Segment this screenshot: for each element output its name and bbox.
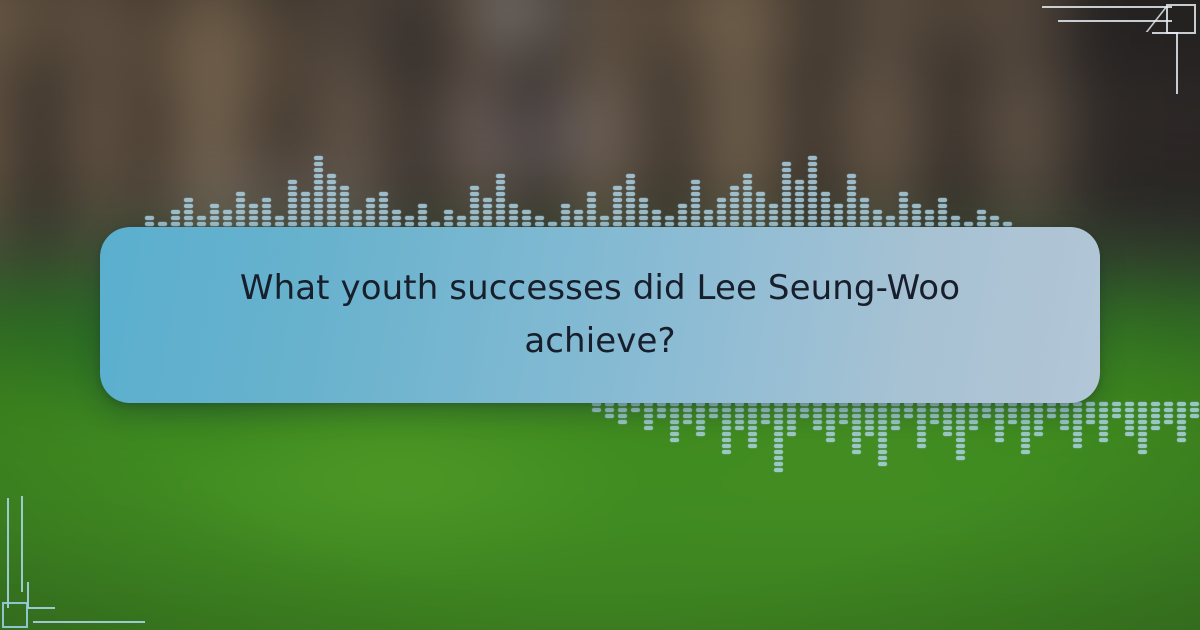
waveform-dot	[756, 216, 765, 220]
waveform-dot	[774, 450, 783, 454]
waveform-dot	[774, 420, 783, 424]
waveform-dot	[691, 216, 700, 220]
waveform-dot	[496, 204, 505, 208]
waveform-dot	[496, 222, 505, 226]
waveform-dot	[678, 216, 687, 220]
waveform-dot	[379, 198, 388, 202]
waveform-dot	[748, 420, 757, 424]
waveform-dot	[756, 222, 765, 226]
waveform-dot	[644, 408, 653, 412]
waveform-bar	[704, 210, 713, 228]
waveform-dot	[639, 210, 648, 214]
waveform-bar	[761, 400, 770, 424]
waveform-dot	[587, 192, 596, 196]
waveform-dot	[1125, 432, 1134, 436]
waveform-bar	[418, 204, 427, 228]
waveform-dot	[951, 222, 960, 226]
waveform-dot	[704, 210, 713, 214]
waveform-dot	[925, 222, 934, 226]
waveform-dot	[496, 180, 505, 184]
waveform-dot	[670, 414, 679, 418]
waveform-bar	[826, 400, 835, 442]
waveform-dot	[683, 408, 692, 412]
waveform-dot	[470, 186, 479, 190]
waveform-dot	[1086, 402, 1095, 406]
waveform-dot	[379, 204, 388, 208]
waveform-bar	[184, 198, 193, 228]
waveform-dot	[743, 222, 752, 226]
waveform-dot	[735, 414, 744, 418]
waveform-dot	[735, 426, 744, 430]
waveform-dot	[808, 174, 817, 178]
waveform-dot	[761, 408, 770, 412]
waveform-bar	[808, 156, 817, 228]
waveform-dot	[860, 204, 869, 208]
waveform-dot	[1099, 402, 1108, 406]
waveform-bar	[769, 204, 778, 228]
waveform-dot	[899, 198, 908, 202]
waveform-dot	[917, 426, 926, 430]
waveform-dot	[535, 222, 544, 226]
waveform-dot	[878, 450, 887, 454]
waveform-dot	[236, 210, 245, 214]
waveform-dot	[964, 222, 973, 226]
waveform-bar	[873, 210, 882, 228]
waveform-dot	[236, 222, 245, 226]
waveform-dot	[995, 426, 1004, 430]
waveform-dot	[1073, 408, 1082, 412]
waveform-bar	[392, 210, 401, 228]
waveform-dot	[314, 210, 323, 214]
waveform-dot	[899, 210, 908, 214]
waveform-dot	[605, 414, 614, 418]
waveform-bar	[995, 400, 1004, 442]
waveform-dot	[314, 204, 323, 208]
waveform-dot	[639, 204, 648, 208]
waveform-dot	[839, 420, 848, 424]
waveform-dot	[1151, 420, 1160, 424]
waveform-dot	[657, 408, 666, 412]
waveform-dot	[1138, 450, 1147, 454]
waveform-bar	[795, 180, 804, 228]
waveform-dot	[1021, 408, 1030, 412]
waveform-dot	[1125, 414, 1134, 418]
waveform-dot	[787, 432, 796, 436]
waveform-dot	[314, 180, 323, 184]
waveform-dot	[470, 204, 479, 208]
waveform-dot	[873, 210, 882, 214]
waveform-dot	[860, 198, 869, 202]
waveform-dot	[1138, 426, 1147, 430]
waveform-dot	[618, 420, 627, 424]
waveform-dot	[496, 186, 505, 190]
waveform-dot	[995, 408, 1004, 412]
waveform-dot	[990, 216, 999, 220]
waveform-dot	[652, 222, 661, 226]
waveform-dot	[891, 414, 900, 418]
waveform-bar	[938, 198, 947, 228]
waveform-dot	[852, 438, 861, 442]
waveform-dot	[379, 216, 388, 220]
waveform-dot	[865, 414, 874, 418]
waveform-dot	[626, 174, 635, 178]
waveform-dot	[223, 222, 232, 226]
waveform-dot	[574, 216, 583, 220]
waveform-dot	[709, 408, 718, 412]
waveform-dot	[1138, 414, 1147, 418]
waveform-dot	[483, 210, 492, 214]
waveform-dot	[834, 216, 843, 220]
waveform-dot	[865, 432, 874, 436]
waveform-dot	[977, 216, 986, 220]
waveform-dot	[327, 186, 336, 190]
waveform-dot	[418, 210, 427, 214]
corner-line-vertical-inner	[21, 496, 23, 592]
waveform-dot	[873, 222, 882, 226]
waveform-dot	[340, 204, 349, 208]
waveform-dot	[891, 420, 900, 424]
waveform-dot	[1125, 402, 1134, 406]
waveform-dot	[301, 210, 310, 214]
waveform-dot	[522, 210, 531, 214]
waveform-dot	[813, 420, 822, 424]
waveform-dot	[912, 222, 921, 226]
waveform-dot	[756, 204, 765, 208]
waveform-dot	[886, 222, 895, 226]
waveform-bar	[860, 198, 869, 228]
waveform-dot	[626, 192, 635, 196]
waveform-dot	[899, 192, 908, 196]
waveform-dot	[930, 420, 939, 424]
corner-line-horizontal-outer	[1042, 6, 1172, 8]
waveform-dot	[444, 210, 453, 214]
waveform-dot	[774, 438, 783, 442]
waveform-dot	[917, 432, 926, 436]
waveform-dot	[600, 216, 609, 220]
waveform-dot	[938, 222, 947, 226]
waveform-dot	[314, 186, 323, 190]
waveform-dot	[1190, 414, 1199, 418]
waveform-dot	[696, 414, 705, 418]
waveform-dot	[1060, 408, 1069, 412]
waveform-dot	[722, 420, 731, 424]
waveform-dot	[613, 192, 622, 196]
waveform-dot	[418, 216, 427, 220]
waveform-dot	[995, 420, 1004, 424]
waveform-dot	[795, 198, 804, 202]
waveform-dot	[748, 414, 757, 418]
waveform-dot	[670, 420, 679, 424]
waveform-dot	[782, 162, 791, 166]
waveform-dot	[301, 204, 310, 208]
waveform-dot	[735, 408, 744, 412]
waveform-dot	[652, 210, 661, 214]
poster-canvas: What youth successes did Lee Seung-Woo a…	[0, 0, 1200, 630]
waveform-dot	[262, 204, 271, 208]
waveform-bar	[1073, 400, 1082, 448]
waveform-bar	[678, 204, 687, 228]
waveform-dot	[722, 444, 731, 448]
waveform-dot	[743, 186, 752, 190]
waveform-dot	[925, 210, 934, 214]
waveform-dot	[340, 198, 349, 202]
corner-square-marker	[1166, 4, 1196, 34]
waveform-bar	[262, 198, 271, 228]
waveform-dot	[340, 222, 349, 226]
waveform-dot	[990, 222, 999, 226]
waveform-dot	[184, 216, 193, 220]
waveform-dot	[691, 210, 700, 214]
waveform-dot	[249, 216, 258, 220]
waveform-dot	[483, 222, 492, 226]
waveform-dot	[891, 426, 900, 430]
waveform-dot	[717, 222, 726, 226]
waveform-bar	[943, 400, 952, 436]
waveform-bar	[834, 204, 843, 228]
waveform-bar	[1034, 400, 1043, 436]
waveform-dot	[1021, 444, 1030, 448]
waveform-dot	[1021, 420, 1030, 424]
waveform-dot	[1073, 438, 1082, 442]
waveform-bar	[1151, 400, 1160, 430]
waveform-dot	[735, 420, 744, 424]
waveform-dot	[340, 210, 349, 214]
waveform-dot	[774, 468, 783, 472]
waveform-dot	[808, 192, 817, 196]
waveform-bar	[722, 400, 731, 454]
waveform-dot	[808, 186, 817, 190]
waveform-dot	[956, 426, 965, 430]
waveform-dot	[249, 210, 258, 214]
waveform-dot	[605, 408, 614, 412]
waveform-dot	[769, 210, 778, 214]
waveform-dot	[730, 198, 739, 202]
waveform-dot	[1177, 402, 1186, 406]
waveform-dot	[327, 204, 336, 208]
waveform-dot	[696, 432, 705, 436]
waveform-dot	[912, 216, 921, 220]
waveform-dot	[795, 222, 804, 226]
waveform-dot	[878, 414, 887, 418]
waveform-dot	[951, 216, 960, 220]
waveform-dot	[1034, 426, 1043, 430]
waveform-dot	[1099, 414, 1108, 418]
waveform-dot	[626, 180, 635, 184]
waveform-dot	[639, 216, 648, 220]
waveform-bar	[496, 174, 505, 228]
waveform-bar	[977, 210, 986, 228]
waveform-dot	[808, 216, 817, 220]
waveform-dot	[722, 450, 731, 454]
waveform-dot	[808, 168, 817, 172]
waveform-bar	[618, 400, 627, 424]
corner-line-diagonal	[1146, 6, 1168, 32]
waveform-dot	[722, 426, 731, 430]
waveform-bar	[644, 400, 653, 430]
waveform-dot	[704, 216, 713, 220]
waveform-dot	[613, 204, 622, 208]
waveform-bar	[379, 192, 388, 228]
corner-ornament-top-right	[1030, 0, 1200, 110]
waveform-dot	[938, 198, 947, 202]
waveform-dot	[743, 174, 752, 178]
waveform-dot	[839, 408, 848, 412]
waveform-dot	[730, 186, 739, 190]
waveform-dot	[1190, 402, 1199, 406]
waveform-dot	[821, 198, 830, 202]
waveform-dot	[275, 216, 284, 220]
waveform-dot	[262, 210, 271, 214]
waveform-dot	[756, 198, 765, 202]
question-card: What youth successes did Lee Seung-Woo a…	[100, 227, 1100, 403]
waveform-dot	[535, 216, 544, 220]
waveform-dot	[353, 216, 362, 220]
waveform-bar	[639, 198, 648, 228]
waveform-dot	[899, 216, 908, 220]
waveform-bar	[1177, 400, 1186, 442]
waveform-dot	[808, 210, 817, 214]
waveform-dot	[1138, 408, 1147, 412]
waveform-dot	[1177, 426, 1186, 430]
waveform-dot	[314, 162, 323, 166]
waveform-dot	[626, 210, 635, 214]
waveform-dot	[678, 204, 687, 208]
waveform-dot	[860, 222, 869, 226]
waveform-dot	[509, 216, 518, 220]
waveform-bar	[847, 174, 856, 228]
waveform-bar	[1008, 400, 1017, 424]
waveform-dot	[171, 210, 180, 214]
waveform-dot	[327, 174, 336, 178]
waveform-dot	[587, 216, 596, 220]
waveform-dot	[860, 210, 869, 214]
waveform-dot	[938, 216, 947, 220]
waveform-dot	[977, 222, 986, 226]
waveform-dot	[496, 210, 505, 214]
waveform-dot	[184, 222, 193, 226]
waveform-dot	[774, 408, 783, 412]
waveform-dot	[1086, 420, 1095, 424]
waveform-bar	[561, 204, 570, 228]
waveform-dot	[496, 192, 505, 196]
waveform-dot	[522, 222, 531, 226]
waveform-dot	[782, 180, 791, 184]
waveform-dot	[899, 204, 908, 208]
waveform-dot	[1138, 438, 1147, 442]
waveform-bar	[236, 192, 245, 228]
waveform-dot	[366, 204, 375, 208]
waveform-bar	[444, 210, 453, 228]
waveform-dot	[917, 420, 926, 424]
waveform-dot	[509, 222, 518, 226]
waveform-dot	[574, 210, 583, 214]
waveform-dot	[969, 414, 978, 418]
waveform-dot	[197, 216, 206, 220]
waveform-dot	[956, 432, 965, 436]
waveform-dot	[795, 204, 804, 208]
waveform-dot	[587, 198, 596, 202]
waveform-dot	[262, 216, 271, 220]
waveform-dot	[795, 180, 804, 184]
waveform-bar	[813, 400, 822, 430]
waveform-bar	[865, 400, 874, 436]
waveform-dot	[691, 192, 700, 196]
waveform-dot	[969, 408, 978, 412]
waveform-dot	[813, 408, 822, 412]
waveform-dot	[743, 216, 752, 220]
waveform-dot	[678, 210, 687, 214]
waveform-dot	[1177, 438, 1186, 442]
waveform-bar	[787, 400, 796, 436]
waveform-dot	[470, 210, 479, 214]
waveform-dot	[956, 438, 965, 442]
waveform-dot	[808, 156, 817, 160]
corner-line-vertical-outer	[7, 498, 9, 608]
waveform-dot	[561, 222, 570, 226]
waveform-dot	[314, 156, 323, 160]
waveform-dot	[262, 222, 271, 226]
audio-waveform-bottom	[592, 400, 1200, 482]
audio-waveform-top	[145, 160, 1012, 228]
waveform-dot	[834, 210, 843, 214]
waveform-bar	[210, 204, 219, 228]
waveform-dot	[301, 192, 310, 196]
waveform-dot	[982, 408, 991, 412]
waveform-dot	[210, 216, 219, 220]
waveform-bar	[613, 186, 622, 228]
waveform-dot	[938, 210, 947, 214]
waveform-dot	[852, 432, 861, 436]
waveform-dot	[1073, 420, 1082, 424]
waveform-dot	[787, 408, 796, 412]
waveform-dot	[626, 198, 635, 202]
waveform-dot	[587, 210, 596, 214]
waveform-dot	[743, 192, 752, 196]
waveform-dot	[626, 186, 635, 190]
waveform-dot	[704, 222, 713, 226]
waveform-dot	[826, 414, 835, 418]
waveform-dot	[1151, 402, 1160, 406]
waveform-dot	[774, 426, 783, 430]
waveform-dot	[327, 192, 336, 196]
waveform-dot	[301, 216, 310, 220]
waveform-dot	[717, 198, 726, 202]
waveform-dot	[288, 192, 297, 196]
waveform-dot	[917, 444, 926, 448]
waveform-dot	[1177, 432, 1186, 436]
waveform-dot	[956, 408, 965, 412]
waveform-dot	[774, 432, 783, 436]
waveform-dot	[314, 222, 323, 226]
waveform-dot	[782, 204, 791, 208]
waveform-dot	[696, 426, 705, 430]
waveform-dot	[826, 438, 835, 442]
waveform-dot	[1164, 414, 1173, 418]
waveform-dot	[696, 408, 705, 412]
waveform-dot	[613, 186, 622, 190]
waveform-dot	[379, 222, 388, 226]
waveform-dot	[943, 432, 952, 436]
waveform-dot	[223, 210, 232, 214]
waveform-dot	[353, 210, 362, 214]
waveform-dot	[288, 210, 297, 214]
waveform-bar	[626, 174, 635, 228]
waveform-dot	[847, 216, 856, 220]
waveform-dot	[340, 216, 349, 220]
waveform-dot	[670, 438, 679, 442]
waveform-dot	[644, 420, 653, 424]
waveform-dot	[774, 414, 783, 418]
